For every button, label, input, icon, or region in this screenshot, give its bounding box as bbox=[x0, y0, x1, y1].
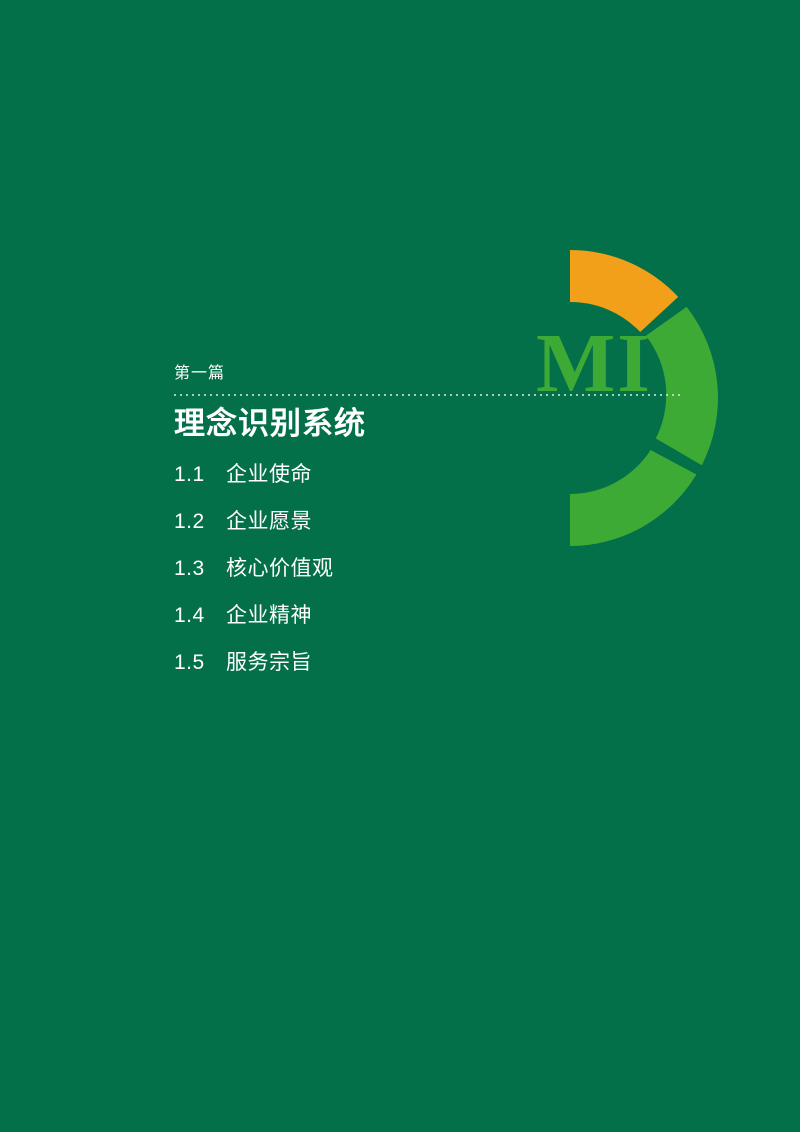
toc-label: 企业精神 bbox=[226, 605, 312, 626]
toc-number: 1.1 bbox=[174, 464, 226, 485]
list-item[interactable]: 1.5 服务宗旨 bbox=[174, 652, 692, 673]
list-item[interactable]: 1.3 核心价值观 bbox=[174, 558, 692, 579]
dotted-divider bbox=[172, 394, 684, 396]
toc-label: 企业愿景 bbox=[226, 511, 312, 532]
list-item[interactable]: 1.2 企业愿景 bbox=[174, 511, 692, 532]
toc-number: 1.3 bbox=[174, 558, 226, 579]
toc-label: 服务宗旨 bbox=[226, 652, 312, 673]
toc-number: 1.5 bbox=[174, 652, 226, 673]
toc-number: 1.2 bbox=[174, 511, 226, 532]
toc-label: 核心价值观 bbox=[226, 558, 334, 579]
list-item[interactable]: 1.1 企业使命 bbox=[174, 464, 692, 485]
toc-number: 1.4 bbox=[174, 605, 226, 626]
table-of-contents: 1.1 企业使命 1.2 企业愿景 1.3 核心价值观 1.4 企业精神 1.5… bbox=[172, 464, 692, 673]
cover-page: MI 第一篇 理念识别系统 1.1 企业使命 1.2 企业愿景 1.3 核心价值… bbox=[0, 0, 800, 1132]
list-item[interactable]: 1.4 企业精神 bbox=[174, 605, 692, 626]
section-kicker: 第一篇 bbox=[174, 366, 692, 382]
cover-text-block: 第一篇 理念识别系统 1.1 企业使命 1.2 企业愿景 1.3 核心价值观 1… bbox=[172, 366, 692, 699]
page-title: 理念识别系统 bbox=[174, 406, 692, 442]
toc-label: 企业使命 bbox=[226, 464, 312, 485]
